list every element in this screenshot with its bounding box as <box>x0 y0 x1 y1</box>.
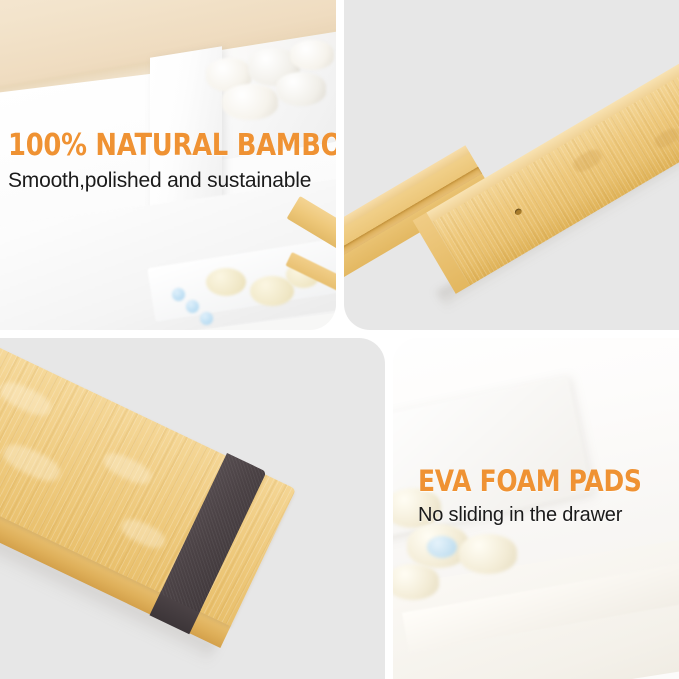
headline-eva-foam-pads: EVA FOAM PADS <box>418 467 642 496</box>
panel-seam-vertical-bottom <box>385 338 393 679</box>
jar <box>290 40 334 70</box>
feature-collage: 100% NATURAL BAMBOO Smooth,polished and … <box>0 0 679 679</box>
callout-eva-foam-pads: EVA FOAM PADS No sliding in the drawer <box>418 467 678 525</box>
bamboo-node-band <box>101 449 155 489</box>
accessory-dot <box>200 312 213 325</box>
bamboo-node-band <box>0 439 64 486</box>
panel-seam-vertical-top <box>336 0 344 338</box>
headline-natural-bamboo: 100% NATURAL BAMBOO <box>8 131 336 161</box>
subline-natural-bamboo: Smooth,polished and sustainable <box>8 170 336 191</box>
pin-hole <box>514 207 523 216</box>
jar <box>459 534 517 574</box>
callout-natural-bamboo: 100% NATURAL BAMBOO Smooth,polished and … <box>8 131 336 191</box>
subline-eva-foam-pads: No sliding in the drawer <box>418 505 678 525</box>
panel-natural-bamboo: 100% NATURAL BAMBOO Smooth,polished and … <box>0 0 336 330</box>
bamboo-plank <box>0 338 296 679</box>
bamboo-knot <box>570 146 604 175</box>
bamboo-node-band <box>118 515 168 553</box>
accessory-dot <box>172 288 185 301</box>
panel-expandable-divider <box>344 0 679 330</box>
jar <box>276 72 326 106</box>
panel-bamboo-plank <box>0 338 385 679</box>
jar <box>222 84 278 120</box>
accessory-dot <box>186 300 199 313</box>
bamboo-knot <box>652 126 679 151</box>
panel-seam-horizontal-left <box>0 330 393 338</box>
bamboo-node-band <box>0 377 55 420</box>
divider-closeup-stage <box>344 0 679 330</box>
panel-eva-foam-pads: EVA FOAM PADS No sliding in the drawer <box>393 338 679 679</box>
jar <box>393 564 439 600</box>
accessory-dot <box>427 536 457 558</box>
jar <box>206 268 246 296</box>
